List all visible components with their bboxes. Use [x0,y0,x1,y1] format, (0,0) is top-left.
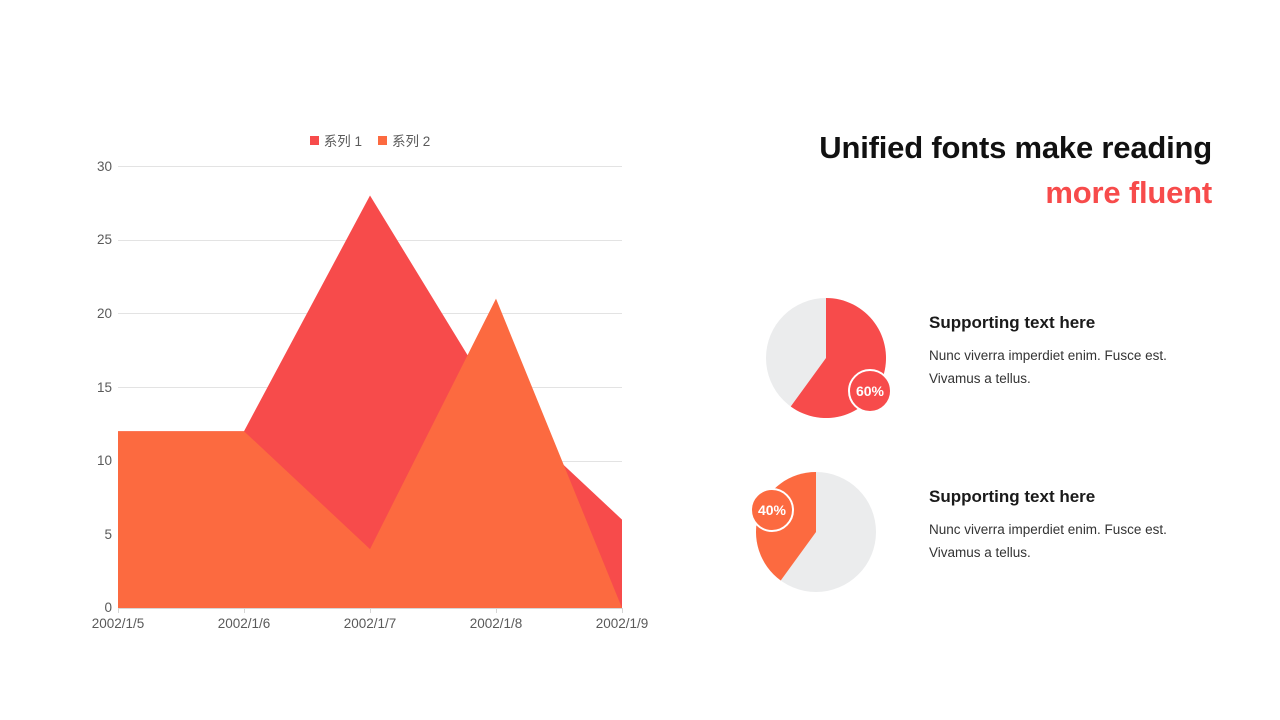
chart-legend: 系列 1 系列 2 [118,130,622,150]
x-axis-label-2: 2002/1/6 [204,617,284,631]
x-axis-label-4: 2002/1/8 [456,617,536,631]
x-tick-1 [118,608,119,613]
x-tick-4 [496,608,497,613]
x-axis-label-1: 2002/1/5 [78,617,158,631]
legend-label-series-1: 系列 1 [324,130,362,150]
y-axis-label-25: 25 [72,233,112,247]
stat-block-2-heading: Supporting text here [929,488,1229,507]
x-axis-label-5: 2002/1/9 [582,617,662,631]
pie-chart-2: 40% [756,472,876,592]
y-axis-label-10: 10 [72,454,112,468]
pie-2-percent-badge: 40% [750,488,794,532]
chart-plot-area [118,166,622,608]
x-tick-2 [244,608,245,613]
stat-block-1-body: Nunc viverra imperdiet enim. Fusce est. … [929,344,1197,390]
area-chart-panel: 系列 1 系列 2 30 25 20 15 10 5 0 2002/1/5 20… [0,0,690,720]
right-content-panel: Unified fonts make reading more fluent 6… [690,0,1280,720]
stat-block-1-text: Supporting text here Nunc viverra imperd… [929,314,1229,390]
page-title: Unified fonts make reading more fluent [700,126,1212,215]
pie-chart-1: 60% [766,298,886,418]
stat-block-1: 60% Supporting text here Nunc viverra im… [690,298,1280,418]
x-tick-3 [370,608,371,613]
pie-1-percent-badge: 60% [848,369,892,413]
y-axis-label-30: 30 [72,160,112,174]
legend-label-series-2: 系列 2 [392,130,430,150]
legend-swatch-series-2 [378,136,387,145]
legend-item-series-1[interactable]: 系列 1 [310,130,362,150]
y-axis-label-0: 0 [72,601,112,615]
y-axis-label-5: 5 [72,528,112,542]
stat-block-2: 40% Supporting text here Nunc viverra im… [690,472,1280,592]
stat-block-1-heading: Supporting text here [929,314,1229,333]
page-title-line-primary: Unified fonts make reading [700,126,1212,171]
legend-swatch-series-1 [310,136,319,145]
stat-block-2-text: Supporting text here Nunc viverra imperd… [929,488,1229,564]
stat-block-2-body: Nunc viverra imperdiet enim. Fusce est. … [929,518,1197,564]
legend-item-series-2[interactable]: 系列 2 [378,130,430,150]
x-tick-5 [622,608,623,613]
x-axis-label-3: 2002/1/7 [330,617,410,631]
y-axis-label-15: 15 [72,381,112,395]
y-axis-label-20: 20 [72,307,112,321]
area-chart-series-svg [118,166,622,608]
page-title-line-accent: more fluent [700,171,1212,216]
